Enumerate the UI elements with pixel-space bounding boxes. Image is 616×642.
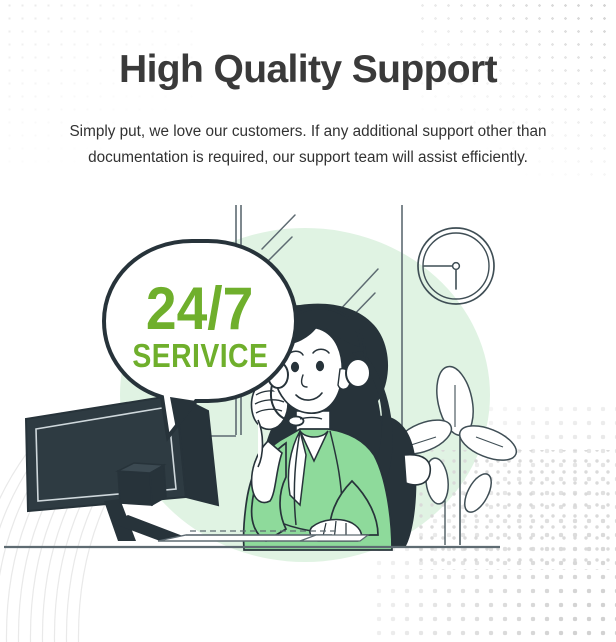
speech-bubble-line1: 24/7 bbox=[146, 276, 253, 343]
page-title: High Quality Support bbox=[0, 48, 616, 92]
illustration: 24/7 SERIVICE bbox=[0, 205, 616, 575]
page-subtitle: Simply put, we love our customers. If an… bbox=[28, 119, 588, 172]
support-section: High Quality Support Simply put, we love… bbox=[0, 0, 616, 642]
header: High Quality Support Simply put, we love… bbox=[0, 0, 616, 171]
wall-clock-icon bbox=[418, 228, 494, 304]
speech-bubble-line2: SERIVICE bbox=[132, 337, 268, 375]
